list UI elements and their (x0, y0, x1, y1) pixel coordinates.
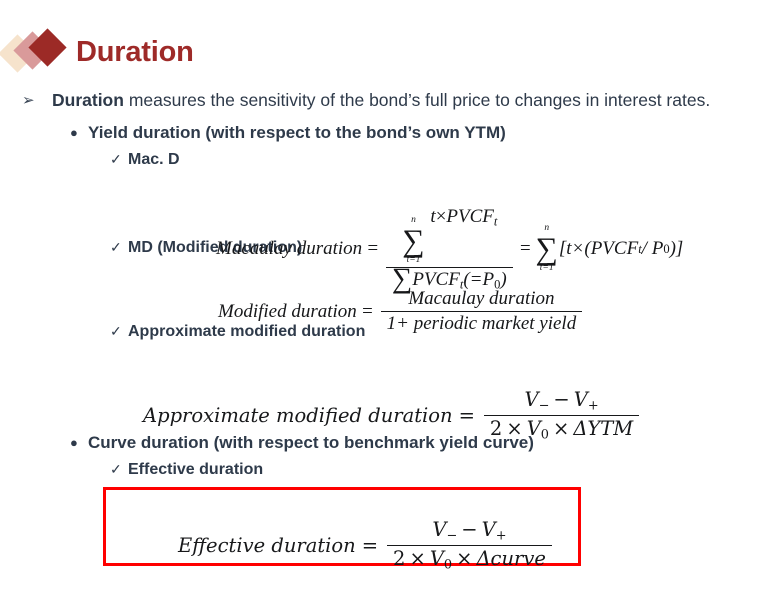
formula-macaulay-duration: Macaulay duration = n ∑ t=1 t×PVCFt ∑PVC… (216, 206, 683, 292)
minus-sign: − (553, 388, 569, 411)
minus-sign: − (461, 518, 477, 541)
fraction-denominator: 2×V0×Δcurve (387, 545, 552, 573)
check-bullet-icon: ✓ (110, 236, 122, 259)
fraction-denominator: 1+ periodic market yield (381, 311, 583, 335)
term-p: P (482, 269, 494, 290)
bullet-duration-definition: ➢ Duration measures the sensitivity of t… (0, 88, 752, 113)
equals-sign: = (361, 301, 374, 323)
term-delta-ytm: ΔYTM (573, 417, 633, 440)
term-v: V (430, 547, 444, 570)
sigma-glyph: ∑ (536, 234, 558, 264)
bullet-label: Yield duration (with respect to the bond… (88, 123, 506, 142)
fraction-numerator: Macaulay duration (402, 288, 560, 311)
slide-header: Duration (0, 24, 194, 80)
sigma-lower-limit: t=1 (540, 264, 554, 274)
formula-effective-duration: Effective duration = V−−V+ 2×V0×Δcurve (178, 518, 555, 572)
check-bullet-icon: ✓ (110, 148, 122, 171)
formula-lhs: Approximate modified duration (143, 404, 453, 427)
rhs-body-end: )] (670, 238, 684, 260)
three-diamonds-icon (2, 28, 72, 76)
subscript-t: t (494, 215, 497, 229)
times-sign: × (409, 547, 425, 570)
disc-bullet-icon: ● (70, 121, 78, 145)
fraction-denominator: 2×V0×ΔYTM (484, 415, 639, 443)
subscript-minus: − (539, 399, 550, 414)
term-v: V (432, 518, 446, 541)
fraction: Macaulay duration 1+ periodic market yie… (381, 288, 583, 335)
term-delta-curve: Δcurve (476, 547, 545, 570)
fraction: V−−V+ 2×V0×Δcurve (387, 518, 552, 572)
bullet-mac-d: ✓ Mac. D (0, 148, 768, 171)
bullet-yield-duration: ● Yield duration (with respect to the bo… (0, 121, 768, 145)
disc-bullet-icon: ● (70, 431, 78, 455)
fraction-numerator: V−−V+ (519, 388, 605, 415)
term-two: 2 (490, 417, 502, 440)
term-pvcf: PVCF (446, 206, 494, 227)
fraction: V−−V+ 2×V0×ΔYTM (484, 388, 639, 442)
bullet-lead-bold: Duration (52, 90, 124, 110)
formula-modified-duration: Modified duration = Macaulay duration 1+… (218, 288, 585, 335)
times-sign: × (436, 206, 447, 227)
bullet-label: Effective duration (128, 461, 263, 478)
rhs-body-mid: / P (642, 238, 664, 260)
times-sign: × (506, 417, 522, 440)
sigma-glyph: ∑ (402, 226, 424, 256)
fraction-numerator: n ∑ t=1 t×PVCFt (395, 206, 503, 267)
rhs-body: [t×(PVCF (559, 238, 638, 260)
term-v: V (574, 388, 588, 411)
check-bullet-icon: ✓ (110, 458, 122, 481)
subscript-minus: − (447, 529, 458, 544)
bullet-label: Mac. D (128, 151, 180, 168)
bullet-text: measures the sensitivity of the bond’s f… (124, 90, 710, 110)
times-sign: × (456, 547, 472, 570)
subscript-plus: + (496, 529, 507, 544)
formula-approximate-modified-duration: Approximate modified duration = V−−V+ 2×… (143, 388, 642, 442)
summation-symbol-rhs: n ∑ t=1 (536, 224, 558, 274)
fraction-numerator: V−−V+ (426, 518, 512, 545)
formula-lhs: Effective duration (178, 534, 356, 557)
check-bullet-icon: ✓ (110, 320, 122, 343)
close-paren: ) (500, 269, 506, 290)
term-two: 2 (393, 547, 405, 570)
page-title: Duration (76, 38, 194, 67)
arrow-bullet-icon: ➢ (22, 88, 35, 113)
equals-sign: = (366, 238, 379, 260)
fraction: n ∑ t=1 t×PVCFt ∑PVCFt(=P0) (386, 206, 513, 292)
subscript-zero: 0 (541, 427, 549, 442)
equals-sign-2: = (519, 238, 532, 260)
times-sign: × (553, 417, 569, 440)
term-v: V (525, 388, 539, 411)
equals-sign: = (459, 404, 475, 427)
subscript-zero: 0 (444, 557, 452, 572)
term-v: V (482, 518, 496, 541)
formula-lhs: Modified duration (218, 301, 357, 323)
term-v: V (527, 417, 541, 440)
formula-lhs: Macaulay duration (216, 238, 362, 260)
subscript-plus: + (588, 399, 599, 414)
equals-sign: = (362, 534, 378, 557)
open-paren-equals: (= (463, 269, 482, 290)
summation-symbol: n ∑ t=1 (402, 216, 424, 266)
bullet-effective-duration: ✓ Effective duration (0, 458, 768, 481)
term-pvcf: PVCF (412, 269, 460, 290)
